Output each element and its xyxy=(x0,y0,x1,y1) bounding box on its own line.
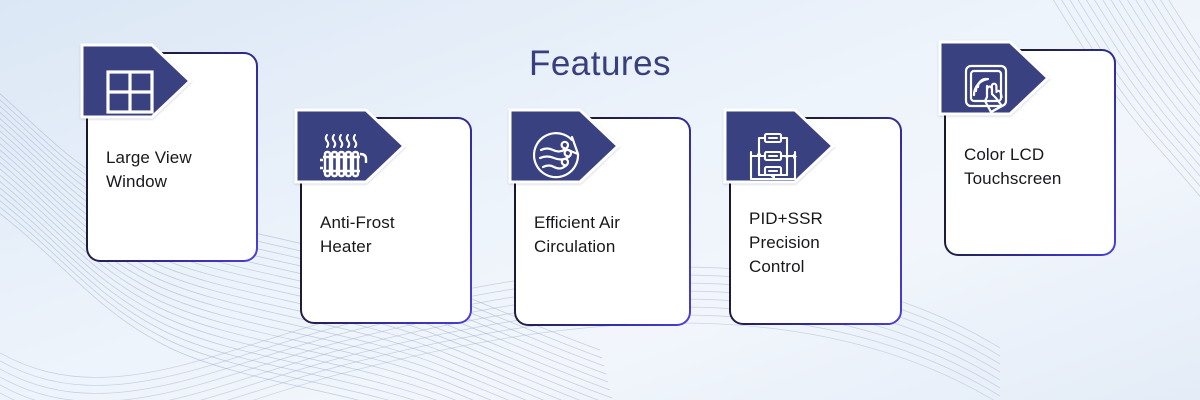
card-label: Anti-Frost Heater xyxy=(320,211,460,259)
card-label: PID+SSR Precision Control xyxy=(749,207,890,279)
feature-card-large-view-window[interactable]: Large View Window xyxy=(86,52,258,262)
circuit-control-icon xyxy=(743,127,803,187)
feature-card-anti-frost-heater[interactable]: Anti-Frost Heater xyxy=(300,117,472,324)
card-label: Large View Window xyxy=(106,146,246,194)
card-label: Efficient Air Circulation xyxy=(534,211,679,259)
air-circulation-icon xyxy=(528,127,588,187)
touchscreen-hand-icon xyxy=(958,59,1018,119)
feature-card-pid-ssr-precision-control[interactable]: PID+SSR Precision Control xyxy=(729,117,902,325)
radiator-heater-icon xyxy=(314,127,374,187)
window-grid-icon xyxy=(100,62,160,122)
card-label: Color LCD Touchscreen xyxy=(964,143,1104,191)
feature-card-efficient-air-circulation[interactable]: Efficient Air Circulation xyxy=(514,117,691,326)
feature-card-color-lcd-touchscreen[interactable]: Color LCD Touchscreen xyxy=(944,49,1116,256)
